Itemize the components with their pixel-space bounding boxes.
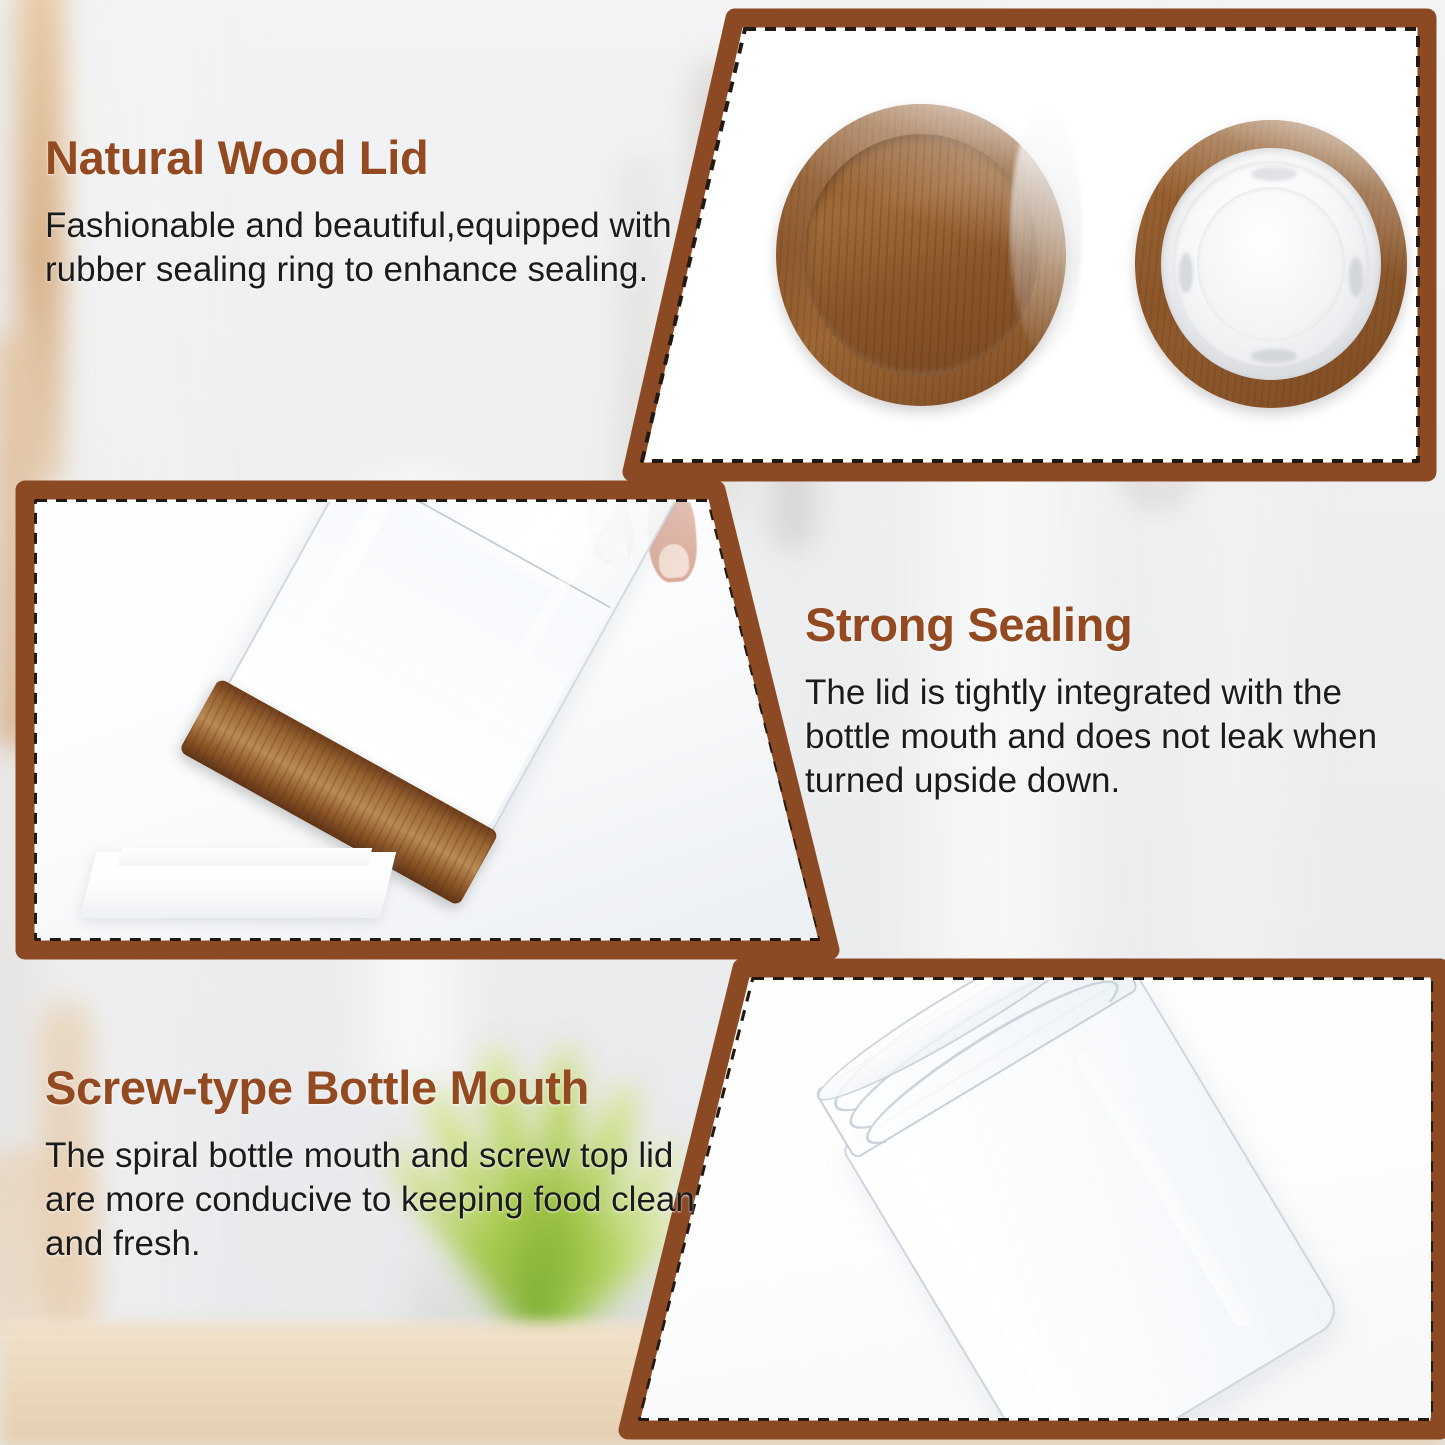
feature-title: Screw-type Bottle Mouth bbox=[45, 1058, 715, 1118]
seal-notch bbox=[1349, 257, 1363, 297]
wood-lid-recess bbox=[804, 134, 1038, 376]
glass-highlight bbox=[1075, 1047, 1255, 1331]
seal-core bbox=[1197, 187, 1345, 341]
feature-description: The spiral bottle mouth and screw top li… bbox=[45, 1134, 715, 1266]
silicone-sealing-ring bbox=[1161, 148, 1381, 380]
feature-title: Strong Sealing bbox=[805, 595, 1420, 655]
feature-description: The lid is tightly integrated with the b… bbox=[805, 671, 1420, 803]
infographic-canvas: Natural Wood Lid Fashionable and beautif… bbox=[0, 0, 1445, 1445]
seal-notch bbox=[1251, 349, 1297, 363]
feature-text-screw-type-bottle-mouth: Screw-type Bottle Mouth The spiral bottl… bbox=[45, 1058, 715, 1266]
feature-text-natural-wood-lid: Natural Wood Lid Fashionable and beautif… bbox=[45, 128, 705, 292]
panel-strong-sealing bbox=[0, 470, 900, 970]
feature-text-strong-sealing: Strong Sealing The lid is tightly integr… bbox=[805, 595, 1420, 803]
stand-top-face bbox=[118, 848, 372, 866]
seal-inner-face bbox=[1173, 161, 1369, 367]
seal-notch bbox=[1251, 167, 1297, 181]
seal-notch bbox=[1179, 253, 1193, 293]
feature-title: Natural Wood Lid bbox=[45, 128, 705, 188]
feature-description: Fashionable and beautiful,equipped with … bbox=[45, 204, 705, 292]
wood-lid-underside-view bbox=[1135, 120, 1407, 408]
lid-top-edge-glare bbox=[1010, 106, 1082, 356]
glass-highlight bbox=[893, 1134, 1099, 1445]
